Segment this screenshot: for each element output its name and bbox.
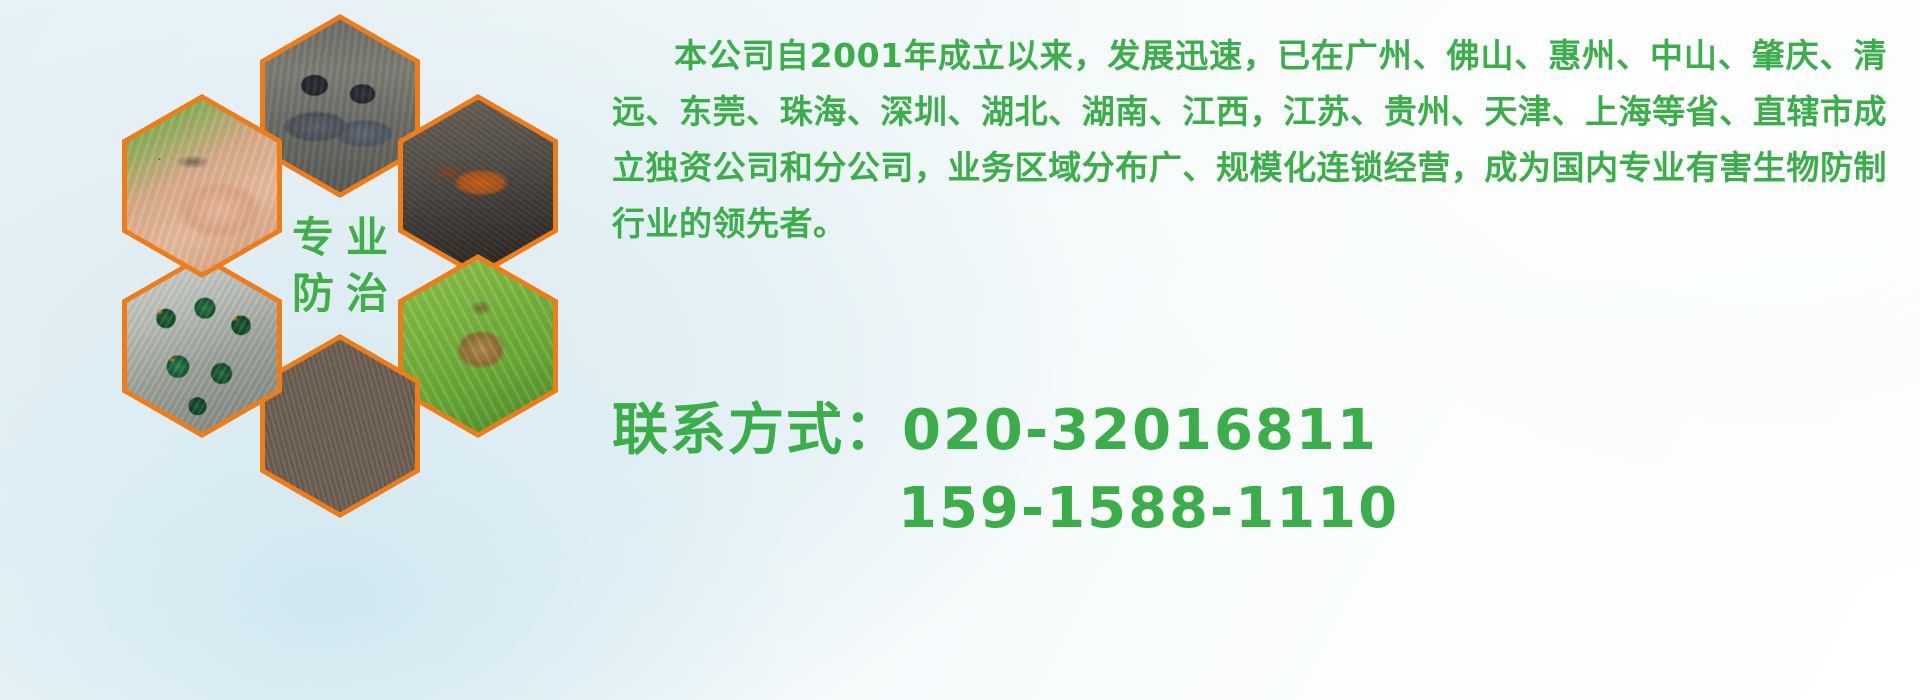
stinkbug-photo-icon bbox=[403, 260, 553, 433]
hex-cell-cockroach bbox=[398, 94, 558, 278]
contact-line-secondary[interactable]: 159-1588-1110 bbox=[612, 470, 1912, 548]
ant-photo-icon bbox=[265, 340, 415, 513]
hex-cell-flies bbox=[122, 254, 282, 438]
mosquito-photo-icon bbox=[127, 100, 277, 273]
hex-cell-ant bbox=[260, 334, 420, 518]
rats-photo-icon bbox=[265, 20, 415, 193]
cockroach-photo-icon bbox=[403, 100, 553, 273]
honeycomb-center-label: 专业 防治 bbox=[260, 174, 420, 358]
hex-cell-rats bbox=[260, 14, 420, 198]
hex-cell-stinkbug bbox=[398, 254, 558, 438]
center-label-line2: 防治 bbox=[280, 273, 400, 315]
intro-copy-block: 本公司自2001年成立以来，发展迅速，已在广州、佛山、惠州、中山、肇庆、清远、东… bbox=[612, 28, 1892, 252]
intro-paragraph: 本公司自2001年成立以来，发展迅速，已在广州、佛山、惠州、中山、肇庆、清远、东… bbox=[612, 28, 1887, 252]
hex-photo-cockroach bbox=[403, 100, 553, 273]
hex-photo-flies bbox=[127, 260, 277, 433]
hex-photo-mosquito bbox=[127, 100, 277, 273]
hex-photo-stinkbug bbox=[403, 260, 553, 433]
contact-block: 联系方式：020-32016811 159-1588-1110 bbox=[612, 392, 1912, 548]
hex-photo-ant bbox=[265, 340, 415, 513]
honeycomb-collage: 专业 防治 bbox=[90, 14, 590, 574]
hex-photo-rats bbox=[265, 20, 415, 193]
pest-control-banner: 专业 防治 本公司自2001年成立以来，发展迅速，已在广州、佛山、惠州、中山、肇… bbox=[0, 0, 1920, 700]
contact-line-primary[interactable]: 联系方式：020-32016811 bbox=[612, 392, 1912, 470]
center-label-line1: 专业 bbox=[280, 217, 400, 259]
flies-photo-icon bbox=[127, 260, 277, 433]
hex-cell-mosquito bbox=[122, 94, 282, 278]
